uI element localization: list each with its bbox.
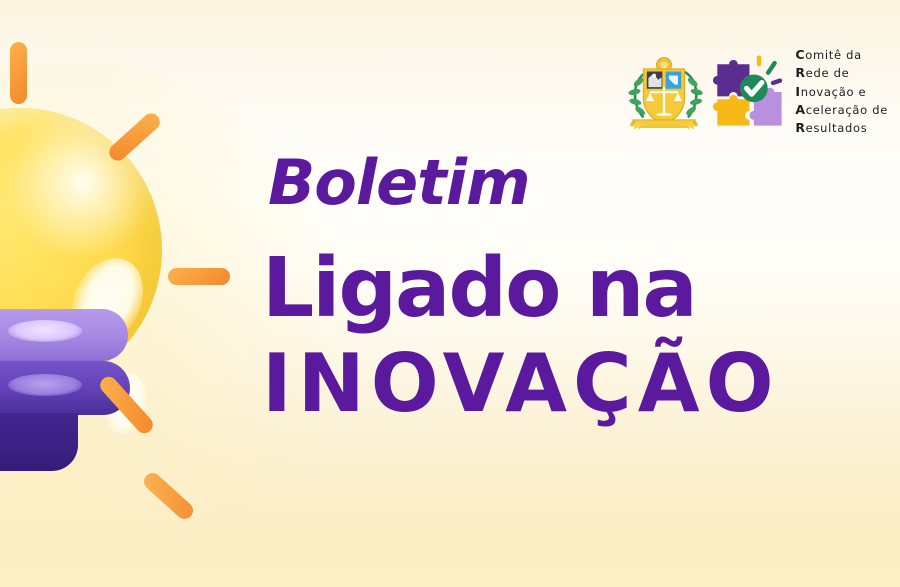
- government-crest-emblem: [623, 51, 705, 133]
- bulb-base-band-lower: [0, 413, 78, 471]
- committee-line-1: Comitê da: [795, 46, 888, 64]
- title-line-2: INOVAÇÃO: [262, 344, 892, 424]
- bulb-base-highlight-middle: [8, 374, 82, 396]
- title-line-1: Ligado na: [262, 250, 892, 328]
- committee-line-4: Aceleração de: [795, 101, 888, 119]
- committee-line-5: Resultados: [795, 119, 888, 137]
- light-ray-icon-3: [168, 268, 230, 285]
- light-ray-icon-1: [10, 42, 27, 104]
- committee-line-2: Rede de: [795, 64, 888, 82]
- puzzle-check-logo: [711, 54, 785, 130]
- logo-lockup: Comitê da Rede de Inovação e Aceleração …: [623, 46, 888, 137]
- committee-name-text: Comitê da Rede de Inovação e Aceleração …: [795, 46, 888, 137]
- kicker-text: Boletim: [268, 152, 892, 214]
- newsletter-banner: Boletim Ligado na INOVAÇÃO: [0, 0, 900, 587]
- bulb-base-highlight-upper: [8, 320, 82, 342]
- committee-line-3: Inovação e: [795, 83, 888, 101]
- headline-block: Boletim Ligado na INOVAÇÃO: [262, 152, 892, 424]
